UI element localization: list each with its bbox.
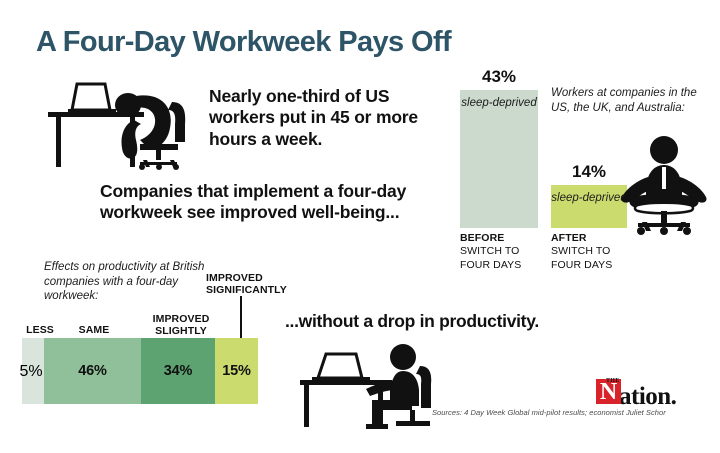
nation-logo: N THE ation. <box>596 379 676 409</box>
after-axis-line2: SWITCH TO <box>551 245 610 257</box>
infographic-canvas: A Four-Day Workweek Pays Off <box>0 0 720 453</box>
nation-logo-word: ation. <box>619 384 676 409</box>
stack-value-less: 5% <box>19 363 42 380</box>
before-value-label: 43% <box>460 67 538 87</box>
before-axis-headline: BEFORE <box>460 232 504 244</box>
stack-label-same: SAME <box>60 324 128 336</box>
stack-segment-improved-significantly: 15% <box>215 338 258 404</box>
after-axis-headline: AFTER <box>551 232 587 244</box>
stack-value-improved-slightly: 34% <box>164 363 192 379</box>
stack-value-same: 46% <box>78 363 106 379</box>
meditating-worker-icon <box>612 133 716 237</box>
before-axis-label: BEFORE SWITCH TO FOUR DAYS <box>460 232 545 272</box>
tired-worker-at-desk-icon <box>44 78 209 170</box>
stack-label-improved-slightly: IMPROVEDSLIGHTLY <box>145 313 217 337</box>
statement-productivity: ...without a drop in productivity. <box>285 311 615 332</box>
before-bar-caption: sleep-deprived <box>460 97 538 111</box>
sources-line: Sources: 4 Day Week Global mid-pilot res… <box>432 408 666 417</box>
leader-line <box>240 296 242 338</box>
productivity-intro-note: Effects on productivity at British compa… <box>44 260 224 304</box>
after-axis-label: AFTER SWITCH TO FOUR DAYS <box>551 232 636 272</box>
statement-hours: Nearly one-third of US workers put in 45… <box>209 86 454 150</box>
stack-label-less: LESS <box>18 324 62 336</box>
productivity-stacked-bar: 46% 34% 15% <box>22 338 258 404</box>
before-axis-line2: SWITCH TO <box>460 245 519 257</box>
stack-segment-improved-slightly: 34% <box>141 338 215 404</box>
region-note: Workers at companies in the US, the UK, … <box>551 86 703 115</box>
stack-label-improved-significantly: IMPROVEDSIGNIFICANTLY <box>206 272 298 296</box>
nation-logo-mark: N THE <box>596 379 621 404</box>
statement-wellbeing: Companies that implement a four-day work… <box>100 181 470 224</box>
stack-value-improved-significantly: 15% <box>222 363 250 379</box>
page-title: A Four-Day Workweek Pays Off <box>36 26 451 59</box>
nation-logo-the: THE <box>606 378 620 384</box>
stack-value-less-wrapper: 5% <box>18 363 44 381</box>
before-axis-line3: FOUR DAYS <box>460 259 521 271</box>
after-axis-line3: FOUR DAYS <box>551 259 612 271</box>
productive-worker-icon <box>300 334 445 430</box>
stack-segment-same: 46% <box>44 338 141 404</box>
